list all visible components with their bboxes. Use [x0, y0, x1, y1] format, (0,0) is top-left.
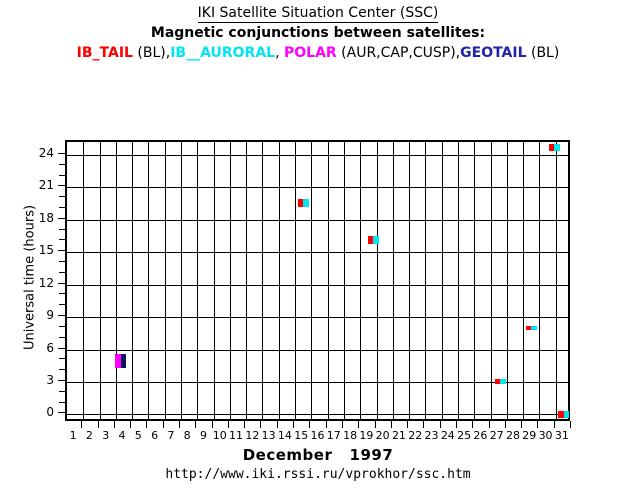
marker-segment — [373, 236, 379, 244]
conjunction-marker — [526, 326, 537, 330]
x-tick — [179, 421, 180, 428]
satellite-name-1: IB__AURORAL — [170, 45, 275, 61]
source-url: http://www.iki.rssi.ru/vprokhor/ssc.htm — [0, 467, 636, 482]
x-tick — [326, 421, 327, 428]
x-tick — [260, 421, 261, 428]
x-tick — [309, 421, 310, 428]
x-tick — [293, 421, 294, 428]
x-tick — [163, 421, 164, 428]
page-title: IKI Satellite Situation Center (SSC) — [0, 4, 636, 23]
x-tick — [342, 421, 343, 428]
footer-month: December — [243, 446, 333, 464]
x-tick — [456, 421, 457, 428]
x-tick — [81, 421, 82, 428]
satellite-name-0: IB_TAIL — [77, 45, 133, 61]
x-tick — [244, 421, 245, 428]
satellite-name-3: GEOTAIL — [460, 45, 526, 61]
x-tick-label: 31 — [552, 430, 572, 442]
marker-segment — [121, 354, 127, 368]
x-tick — [554, 421, 555, 428]
conjunction-marker — [298, 199, 309, 207]
x-tick — [277, 421, 278, 428]
chart-title-block: IKI Satellite Situation Center (SSC) Mag… — [0, 4, 636, 63]
conjunction-marker — [549, 144, 560, 150]
y-tick-label: 12 — [24, 277, 54, 289]
conjunction-marker — [368, 236, 379, 244]
footer-year: 1997 — [350, 446, 394, 464]
marker-segment — [564, 411, 570, 417]
plot-area — [65, 140, 570, 421]
x-axis-title: December 1997 — [0, 446, 636, 464]
satellite-instruments-0: (BL), — [133, 45, 170, 61]
x-tick — [570, 421, 571, 428]
satellite-legend-line: IB_TAIL (BL),IB__AURORAL, POLAR (AUR,CAP… — [0, 43, 636, 63]
x-tick — [375, 421, 376, 428]
x-tick — [195, 421, 196, 428]
x-tick — [407, 421, 408, 428]
x-tick — [391, 421, 392, 428]
footer-gap — [332, 446, 349, 464]
marker-segment — [500, 379, 506, 384]
page-title-text: IKI Satellite Situation Center (SSC) — [198, 5, 439, 23]
x-tick — [98, 421, 99, 428]
marker-segment — [303, 199, 309, 207]
conjunction-marker — [115, 354, 126, 368]
x-tick — [505, 421, 506, 428]
conjunction-markers — [67, 142, 568, 419]
x-tick — [146, 421, 147, 428]
satellite-instruments-1: , — [275, 45, 284, 61]
marker-segment — [554, 144, 560, 150]
y-tick-label: 3 — [24, 374, 54, 386]
x-tick — [537, 421, 538, 428]
x-tick — [228, 421, 229, 428]
y-tick-label: 21 — [24, 179, 54, 191]
x-tick — [489, 421, 490, 428]
conjunction-marker — [495, 379, 506, 384]
y-tick-label: 15 — [24, 244, 54, 256]
x-tick — [212, 421, 213, 428]
y-tick-label: 0 — [24, 406, 54, 418]
x-tick — [521, 421, 522, 428]
satellite-instruments-3: (BL) — [527, 45, 560, 61]
x-tick — [423, 421, 424, 428]
satellite-instruments-2: (AUR,CAP,CUSP), — [337, 45, 460, 61]
x-tick — [358, 421, 359, 428]
y-tick-label: 6 — [24, 342, 54, 354]
x-tick — [472, 421, 473, 428]
x-tick — [440, 421, 441, 428]
marker-segment — [531, 326, 537, 330]
y-tick-label: 18 — [24, 212, 54, 224]
y-tick-label: 9 — [24, 309, 54, 321]
x-tick — [114, 421, 115, 428]
conjunction-marker — [558, 411, 569, 417]
y-tick-label: 24 — [24, 147, 54, 159]
chart-subtitle: Magnetic conjunctions between satellites… — [0, 23, 636, 43]
satellite-name-2: POLAR — [284, 45, 337, 61]
x-tick — [130, 421, 131, 428]
